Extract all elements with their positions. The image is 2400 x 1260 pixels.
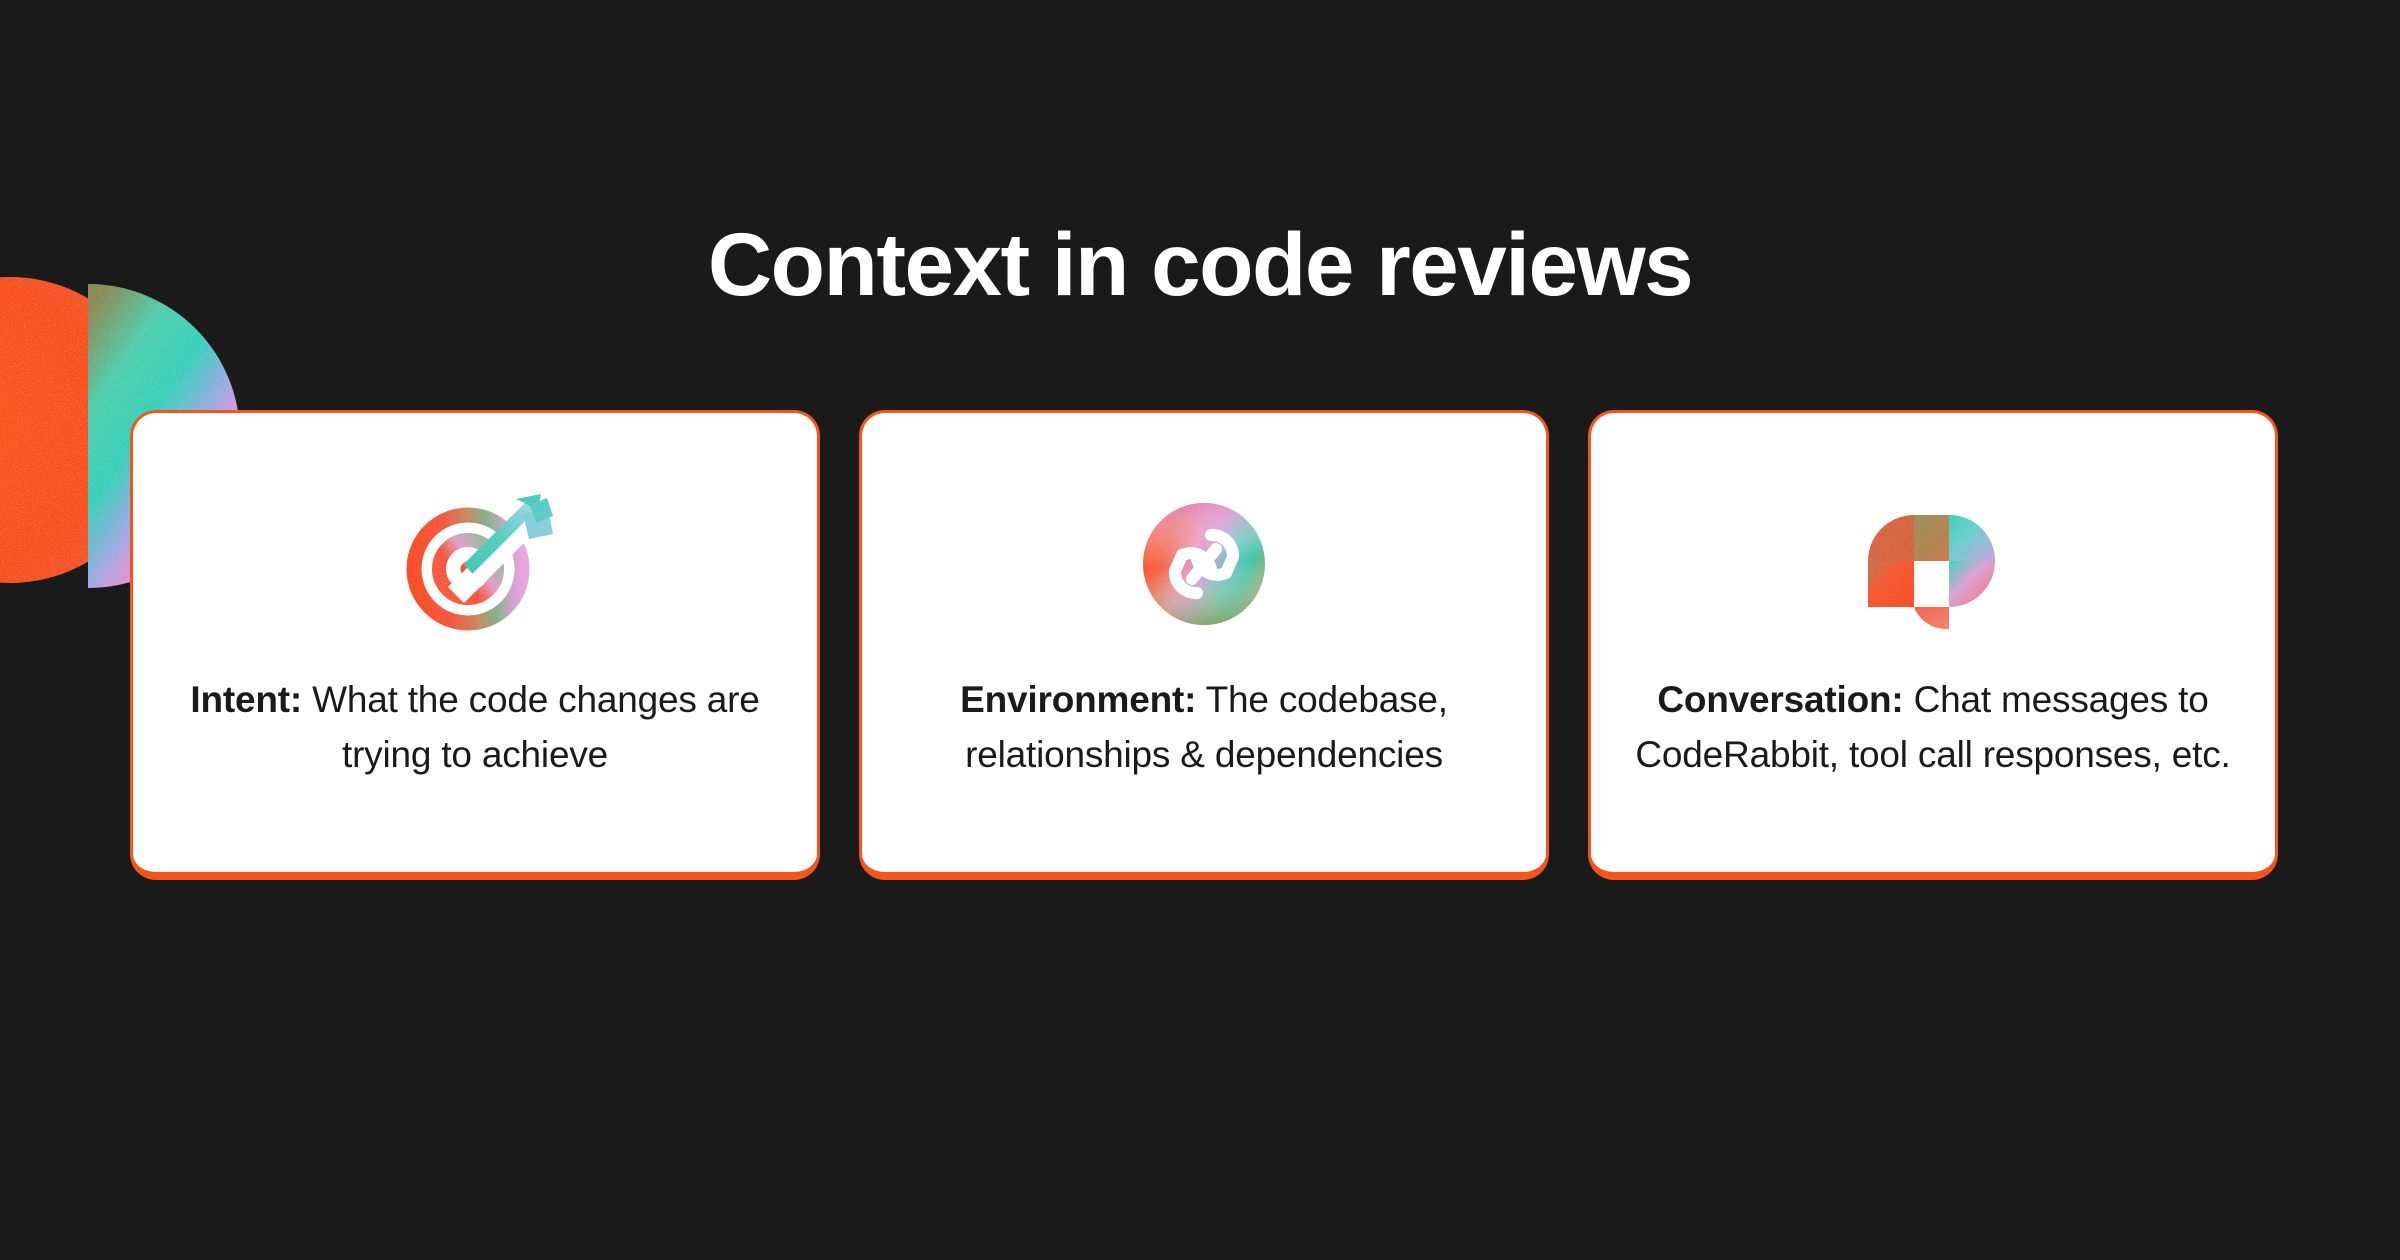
context-card-environment[interactable]: Environment: The codebase, relationships… xyxy=(859,410,1549,880)
target-arrow-icon xyxy=(390,489,560,639)
context-card-row: Intent: What the code changes are trying… xyxy=(130,410,2278,880)
card-lead-environment: Environment: xyxy=(960,679,1196,720)
card-lead-intent: Intent: xyxy=(190,679,302,720)
card-text-intent: Intent: What the code changes are trying… xyxy=(175,673,775,783)
card-body-intent: What the code changes are trying to achi… xyxy=(302,679,760,775)
context-card-intent[interactable]: Intent: What the code changes are trying… xyxy=(130,410,820,880)
card-text-conversation: Conversation: Chat messages to CodeRabbi… xyxy=(1633,673,2233,783)
speech-bubble-icon xyxy=(1848,489,2018,639)
page-title: Context in code reviews xyxy=(0,218,2400,311)
chain-link-circle-icon xyxy=(1119,489,1289,639)
card-text-environment: Environment: The codebase, relationships… xyxy=(904,673,1504,783)
context-card-conversation[interactable]: Conversation: Chat messages to CodeRabbi… xyxy=(1588,410,2278,880)
card-lead-conversation: Conversation: xyxy=(1657,679,1903,720)
